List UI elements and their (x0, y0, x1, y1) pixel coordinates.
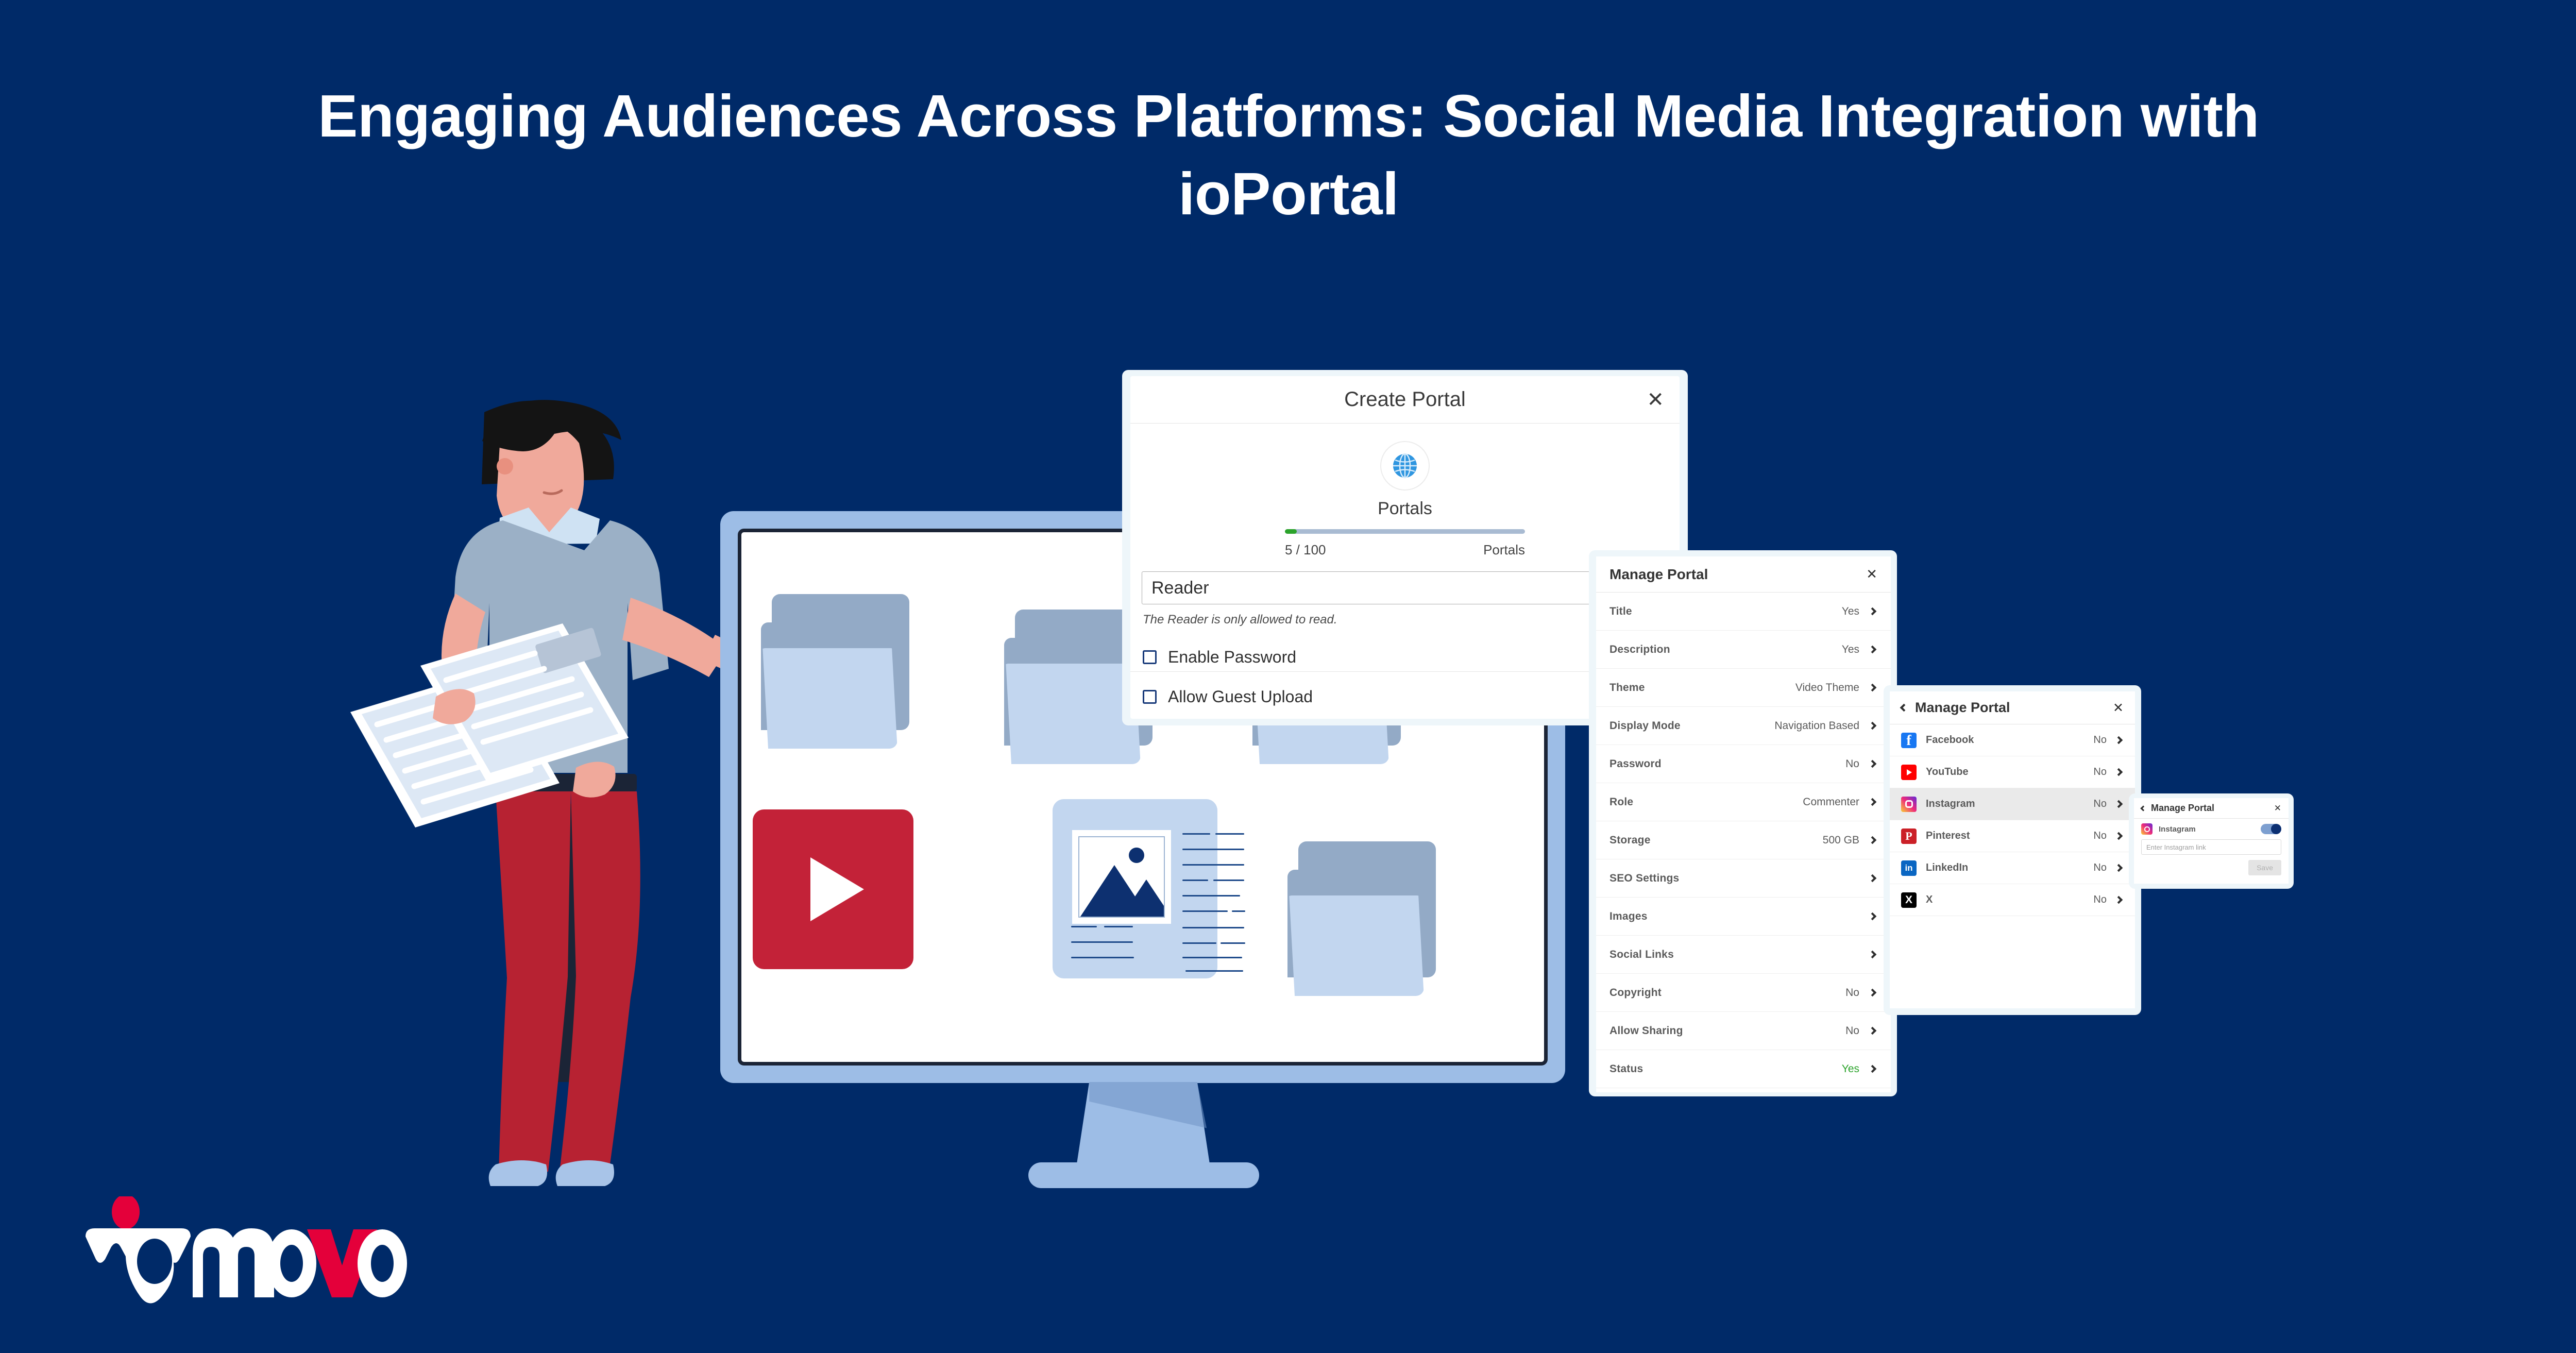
chevron-right-icon (2115, 800, 2123, 808)
settings-row-value: 500 GB (1823, 834, 1859, 847)
chevron-right-icon (1869, 874, 1877, 883)
instagram-label: Instagram (2159, 825, 2261, 834)
settings-row-label: Allow Sharing (1609, 1025, 1845, 1037)
social-row-value: No (2093, 766, 2107, 778)
manage-portal-social-panel: Manage Portal ✕ fFacebookNoYouTubeNoInst… (1890, 691, 2135, 1008)
play-icon (810, 857, 864, 921)
social-row[interactable]: fFacebookNo (1890, 724, 2135, 756)
settings-row-value: Navigation Based (1774, 720, 1859, 732)
x-icon: X (1901, 892, 1917, 908)
settings-row[interactable]: PasswordNo (1596, 745, 1891, 783)
manage-portal-social-title: Manage Portal (1915, 700, 2113, 716)
chevron-right-icon (2115, 864, 2123, 872)
image-placeholder-icon (1072, 830, 1171, 924)
chevron-right-icon (2115, 736, 2123, 745)
logo-dot (112, 1196, 140, 1229)
enable-password-label: Enable Password (1168, 648, 1296, 667)
settings-row[interactable]: CopyrightNo (1596, 974, 1891, 1012)
social-row-label: YouTube (1926, 766, 2093, 778)
chevron-right-icon (1869, 646, 1877, 654)
settings-row-label: Status (1609, 1063, 1842, 1075)
settings-row-value: Yes (1842, 644, 1859, 656)
settings-row-value: Yes (1842, 1063, 1859, 1075)
instagram-link-input[interactable]: Enter Instagram link (2141, 839, 2281, 855)
chevron-right-icon (2115, 768, 2123, 776)
facebook-icon: f (1901, 733, 1917, 748)
close-icon[interactable]: ✕ (1647, 390, 1664, 410)
progress-track (1285, 529, 1525, 534)
quota-unit-label: Portals (1483, 542, 1525, 558)
social-row[interactable]: InstagramNo (1890, 788, 2135, 820)
settings-row-value: Commenter (1803, 796, 1859, 808)
chevron-left-icon[interactable] (2140, 805, 2146, 811)
social-row-value: No (2093, 830, 2107, 842)
settings-row[interactable]: DescriptionYes (1596, 631, 1891, 669)
folder-4 (1286, 841, 1436, 996)
social-row-value: No (2093, 734, 2107, 746)
social-row-label: Pinterest (1926, 830, 2093, 842)
settings-row[interactable]: TitleYes (1596, 593, 1891, 631)
settings-row-label: Theme (1609, 682, 1795, 694)
social-row[interactable]: XXNo (1890, 884, 2135, 916)
close-icon[interactable]: ✕ (2274, 803, 2281, 814)
chevron-right-icon (2115, 832, 2123, 840)
settings-row-label: Title (1609, 605, 1842, 618)
social-row-label: X (1926, 894, 2093, 906)
social-row[interactable]: inLinkedInNo (1890, 852, 2135, 884)
brand-logo (76, 1196, 416, 1305)
social-row-value: No (2093, 894, 2107, 906)
settings-row[interactable]: SEO Settings (1596, 859, 1891, 898)
settings-row[interactable]: Allow SharingNo (1596, 1012, 1891, 1050)
youtube-icon (1901, 765, 1917, 780)
settings-row-value: No (1845, 987, 1859, 999)
folder-front (1286, 895, 1424, 996)
settings-row-label: Description (1609, 644, 1842, 656)
save-button[interactable]: Save (2248, 860, 2281, 875)
chevron-right-icon (1869, 951, 1877, 959)
portal-quota-block: Portals (1130, 441, 1680, 519)
settings-row-label: Display Mode (1609, 720, 1774, 732)
instagram-enable-toggle[interactable] (2261, 824, 2281, 834)
chevron-right-icon (1869, 1065, 1877, 1073)
settings-row-label: Images (1609, 910, 1859, 923)
chevron-right-icon (1869, 912, 1877, 921)
chevron-right-icon (2115, 896, 2123, 904)
social-row-value: No (2093, 862, 2107, 874)
social-row-label: Facebook (1926, 734, 2093, 746)
manage-portal-detail-header: Manage Portal ✕ (2134, 798, 2289, 819)
create-portal-title: Create Portal (1148, 388, 1662, 411)
quota-used-label: 5 / 100 (1285, 542, 1326, 558)
linkedin-icon: in (1901, 860, 1917, 876)
enable-password-checkbox[interactable] (1143, 650, 1157, 664)
settings-row-value: Yes (1842, 605, 1859, 618)
pinterest-icon: P (1901, 828, 1917, 844)
manage-portal-detail-footer: Save (2134, 855, 2289, 875)
settings-row[interactable]: RoleCommenter (1596, 783, 1891, 821)
close-icon[interactable]: ✕ (1866, 566, 1877, 582)
settings-row-label: Password (1609, 758, 1845, 770)
manage-portal-settings-panel: Manage Portal ✕ TitleYesDescriptionYesTh… (1596, 556, 1891, 1092)
portal-quota-label: Portals (1378, 499, 1432, 519)
chevron-right-icon (1869, 684, 1877, 692)
manage-portal-social-header: Manage Portal ✕ (1890, 691, 2135, 724)
settings-row-value: No (1845, 1025, 1859, 1037)
instagram-toggle-row: Instagram (2134, 819, 2289, 839)
chevron-right-icon (1869, 760, 1877, 768)
folder-front (760, 648, 897, 749)
instagram-icon (1901, 797, 1917, 812)
settings-row-label: Social Links (1609, 949, 1859, 961)
social-row-value: No (2093, 798, 2107, 810)
settings-row[interactable]: Display ModeNavigation Based (1596, 707, 1891, 745)
monitor-base (1028, 1162, 1259, 1188)
social-row-label: Instagram (1926, 798, 2093, 810)
manage-portal-social-list: fFacebookNoYouTubeNoInstagramNoPPinteres… (1890, 724, 2135, 916)
globe-glyph (1392, 452, 1418, 479)
chevron-right-icon (1869, 1027, 1877, 1035)
chevron-left-icon[interactable] (1900, 704, 1908, 712)
progress-meta: 5 / 100 Portals (1285, 542, 1525, 558)
chevron-right-icon (1869, 722, 1877, 730)
manage-portal-settings-header: Manage Portal ✕ (1596, 556, 1891, 593)
settings-row[interactable]: Storage500 GB (1596, 821, 1891, 859)
portal-quota-progress: 5 / 100 Portals (1285, 529, 1525, 558)
close-icon[interactable]: ✕ (2113, 700, 2124, 716)
chevron-right-icon (1869, 836, 1877, 844)
settings-row-label: Copyright (1609, 987, 1845, 999)
manage-portal-settings-title: Manage Portal (1609, 566, 1866, 583)
person-illustration (330, 392, 757, 1195)
settings-row-label: SEO Settings (1609, 872, 1859, 885)
progress-fill (1285, 529, 1297, 534)
create-portal-header: Create Portal ✕ (1130, 376, 1680, 424)
chevron-right-icon (1869, 798, 1877, 806)
instagram-icon (2141, 823, 2153, 835)
manage-portal-detail-title: Manage Portal (2151, 803, 2274, 814)
settings-row-label: Storage (1609, 834, 1823, 847)
settings-row[interactable]: Social Links (1596, 936, 1891, 974)
settings-row[interactable]: ThemeVideo Theme (1596, 669, 1891, 707)
poster-canvas: Engaging Audiences Across Platforms: Soc… (0, 0, 2576, 1353)
settings-row-value: Video Theme (1795, 682, 1859, 694)
folder-front (1003, 664, 1141, 764)
settings-row[interactable]: StatusYes (1596, 1050, 1891, 1088)
social-row-label: LinkedIn (1926, 862, 2093, 874)
globe-icon (1380, 441, 1430, 491)
social-row[interactable]: PPinterestNo (1890, 820, 2135, 852)
manage-portal-detail-panel: Manage Portal ✕ Instagram Enter Instagra… (2134, 798, 2289, 884)
page-title: Engaging Audiences Across Platforms: Soc… (0, 77, 2576, 233)
social-row[interactable]: YouTubeNo (1890, 756, 2135, 788)
manage-portal-settings-list: TitleYesDescriptionYesThemeVideo ThemeDi… (1596, 593, 1891, 1088)
folder-1 (760, 594, 909, 749)
video-tile (753, 809, 913, 969)
settings-row[interactable]: Images (1596, 898, 1891, 936)
chevron-right-icon (1869, 607, 1877, 616)
document-card (1053, 799, 1217, 978)
role-select-value: Reader (1151, 578, 1209, 598)
chevron-right-icon (1869, 989, 1877, 997)
settings-row-value: No (1845, 758, 1859, 770)
settings-row-label: Role (1609, 796, 1803, 808)
